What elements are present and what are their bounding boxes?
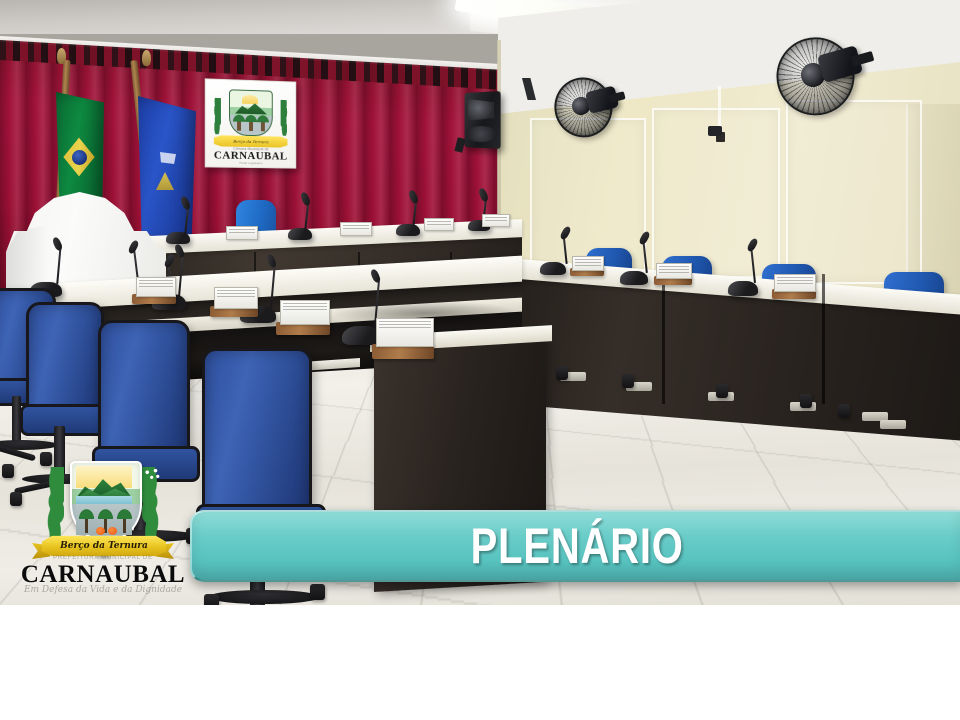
desk-seam xyxy=(662,274,665,404)
desk-caster xyxy=(556,366,568,380)
plaque-palm-icon xyxy=(261,119,265,131)
plenary-title-banner: PLENÁRIO xyxy=(190,510,960,582)
nameplate-head-4 xyxy=(482,214,510,227)
nameplate-card xyxy=(774,274,816,292)
mic-base xyxy=(620,271,648,285)
plenary-photograph: Berço da Ternura Câmara Municipal de CAR… xyxy=(0,0,960,605)
desk-caster xyxy=(622,374,634,388)
wall-molding-panel xyxy=(786,100,922,284)
logo-tagline: Em Defesa da Vida e da Dignidade xyxy=(18,585,188,595)
chair-backrest xyxy=(26,302,104,420)
plaque-frond-left-icon xyxy=(208,98,221,135)
plaque-frond-right-icon xyxy=(281,100,294,136)
mic-base xyxy=(288,228,312,240)
mic-base xyxy=(540,262,566,275)
nameplate-card xyxy=(136,277,176,297)
desk-caster xyxy=(800,394,812,408)
page-whitespace xyxy=(0,605,960,720)
ribbon: Berço da Ternura xyxy=(42,535,166,557)
nameplate-card xyxy=(572,256,604,271)
mic-base xyxy=(728,281,758,296)
plaque-tagline: Poder Legislativo xyxy=(206,160,296,165)
chair-backrest xyxy=(202,348,312,524)
nameplate-head-3 xyxy=(424,218,454,231)
nameplate-card xyxy=(376,318,434,347)
desk-foot xyxy=(880,420,906,429)
fruit-icon xyxy=(96,527,105,535)
pa-speaker-woofer xyxy=(467,126,495,142)
plaque-palm-icon xyxy=(237,119,241,131)
ribbon-motto: Berço da Ternura xyxy=(42,535,166,557)
palm-tree-icon xyxy=(85,515,88,533)
plaque-palm-icon xyxy=(249,119,253,131)
plaque-sun-icon xyxy=(242,95,258,104)
camera-mount-icon xyxy=(708,126,722,136)
fruit-icon xyxy=(108,527,117,535)
flag-ceara xyxy=(126,52,206,252)
chair-base xyxy=(208,590,320,604)
flag-finial xyxy=(142,50,151,66)
frond-left-icon xyxy=(30,467,64,539)
palm-tree-icon xyxy=(123,515,126,533)
chair-caster xyxy=(204,594,219,605)
plaque-shield-icon xyxy=(229,89,273,136)
nameplate-card xyxy=(280,300,330,325)
photo-card: Berço da Ternura Câmara Municipal de CAR… xyxy=(0,0,960,720)
mic-base xyxy=(396,224,420,236)
flag-ceara-cloth xyxy=(138,96,196,248)
desk-caster xyxy=(838,404,850,418)
nameplate-card xyxy=(656,263,692,279)
nameplate-head-1 xyxy=(226,226,258,240)
wall-coat-of-arms-plaque: Berço da Ternura Câmara Municipal de CAR… xyxy=(205,78,297,168)
plenary-title-label: PLENÁRIO xyxy=(470,521,683,571)
wall-molding-panel xyxy=(530,118,646,272)
sparkle-dots-icon xyxy=(144,469,160,485)
nameplate-card xyxy=(214,287,258,309)
pa-speaker-horn xyxy=(468,99,494,121)
desk-caster xyxy=(716,384,728,398)
nameplate-head-2 xyxy=(340,222,372,236)
chair-caster xyxy=(310,584,325,600)
chair-backrest xyxy=(98,320,190,462)
chair-caster xyxy=(2,464,14,478)
mic-base xyxy=(166,232,190,244)
flag-brazil-globe xyxy=(72,150,87,165)
carnaubal-coat-of-arms-watermark: Berço da Ternura PREFEITURA MUNICIPAL DE… xyxy=(18,455,188,600)
shield-icon xyxy=(70,461,142,541)
desk-seam xyxy=(822,274,825,404)
